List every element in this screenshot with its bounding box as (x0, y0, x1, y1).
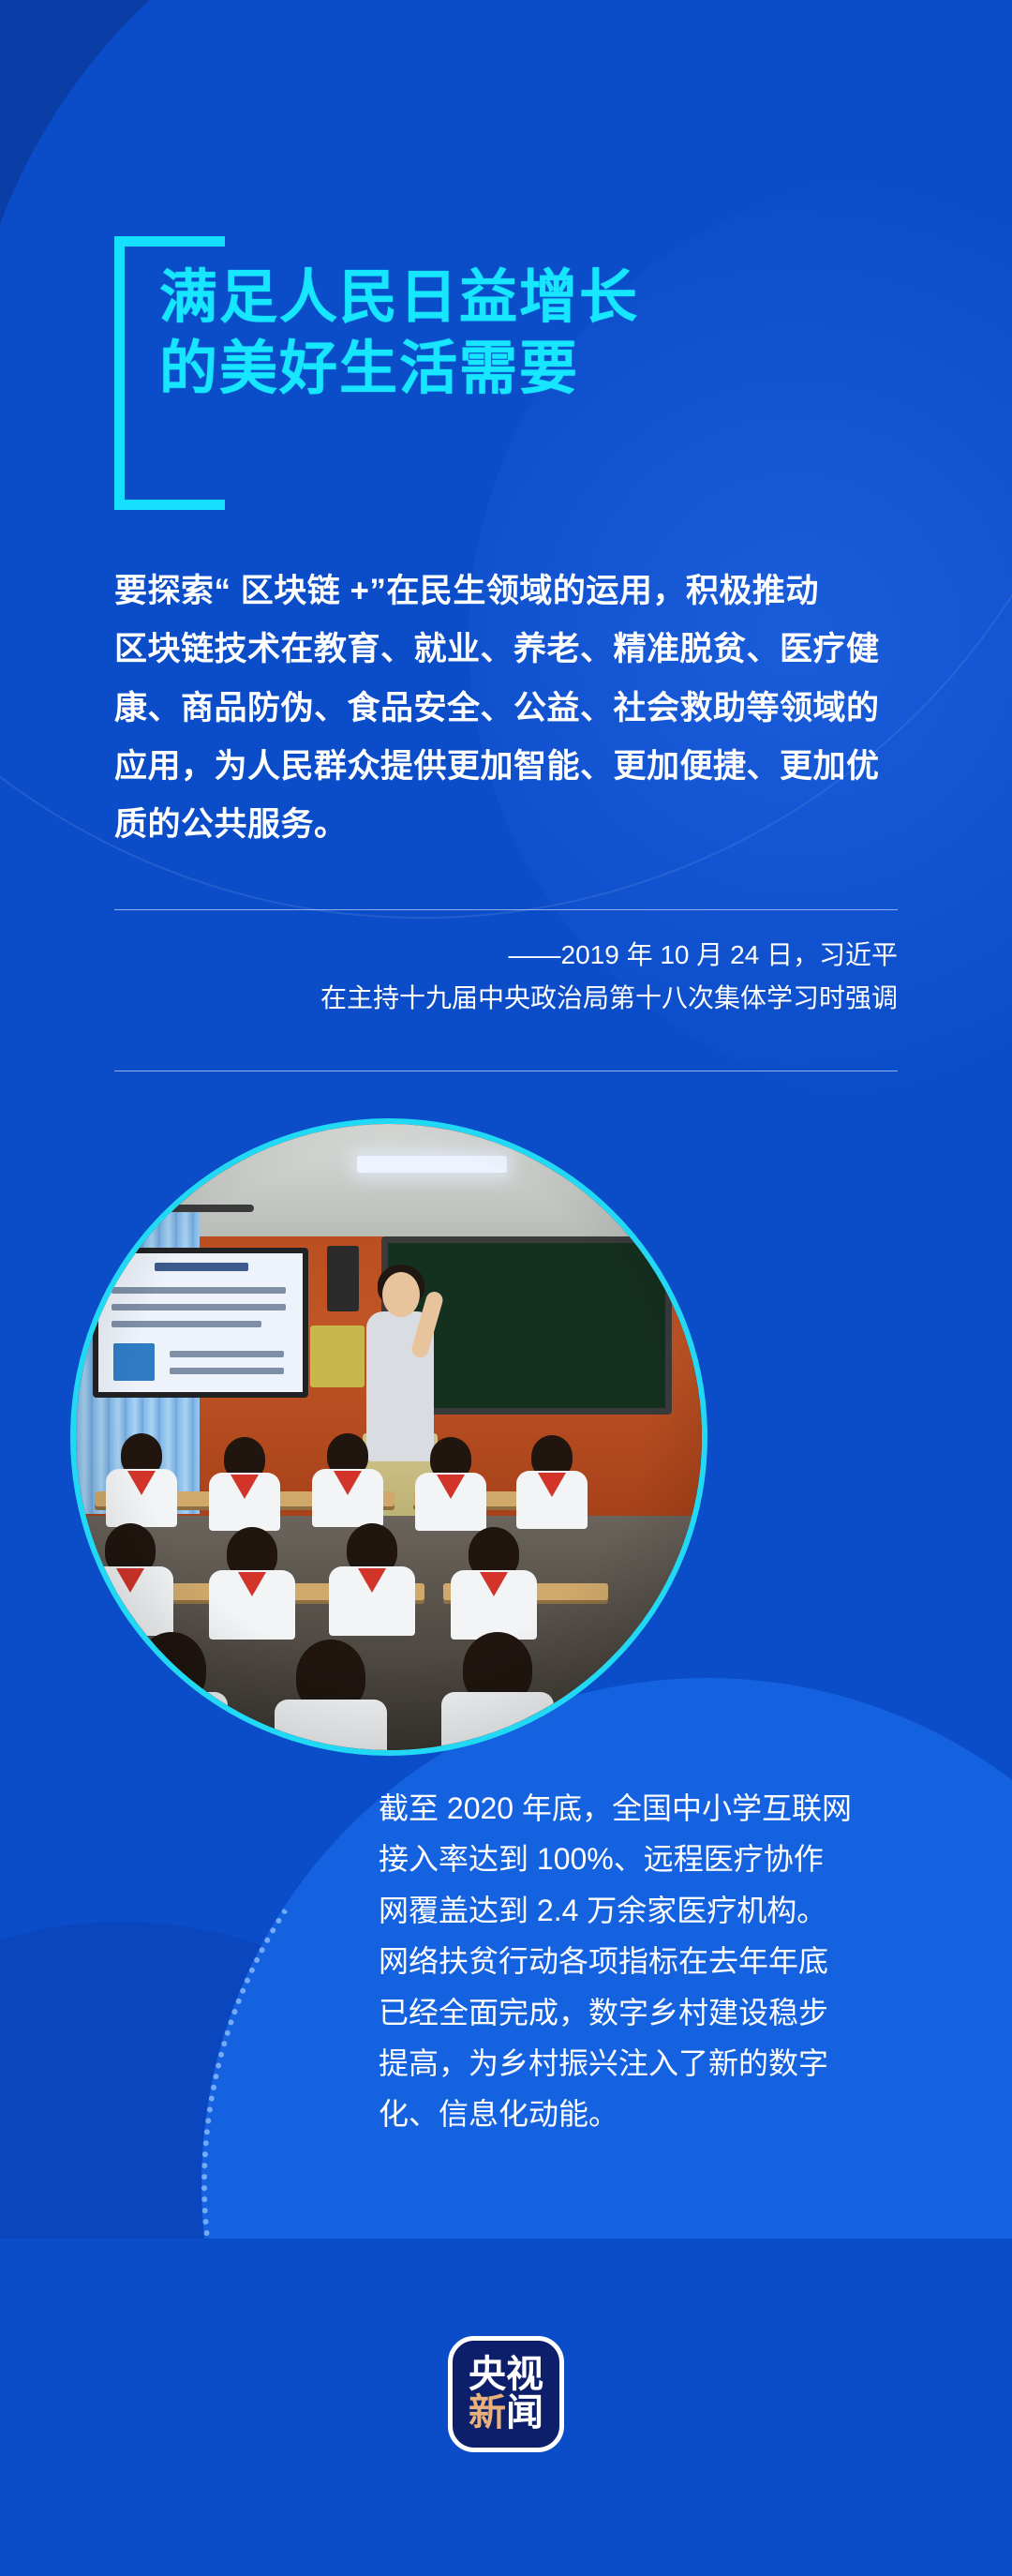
classroom-photo (70, 1118, 707, 1756)
logo-char-yang: 央 (469, 2356, 506, 2394)
quote-paragraph: 要探索“ 区块链 +”在民生领域的运用，积极推动 区块链技术在教育、就业、养老、… (114, 562, 901, 854)
logo-row-bottom: 新 闻 (453, 2394, 559, 2433)
cctv-news-logo: 央 视 新 闻 (448, 2336, 564, 2452)
divider-top (114, 909, 898, 910)
photo-vignette (76, 1124, 702, 1750)
logo-row-top: 央 视 (453, 2356, 559, 2394)
statement-text: 截至 2020 年底，全国中小学互联网 接入率达到 100%、远程医疗协作 网覆… (379, 1783, 941, 2140)
logo-char-xin: 新 (469, 2394, 506, 2433)
logo-char-shi: 视 (506, 2356, 543, 2394)
poster-root: 满足人民日益增长 的美好生活需要 要探索“ 区块链 +”在民生领域的运用，积极推… (0, 0, 1012, 2576)
divider-bottom (114, 1071, 898, 1071)
logo-char-wen: 闻 (506, 2394, 543, 2433)
title-block: 满足人民日益增长 的美好生活需要 (114, 236, 845, 404)
page-title: 满足人民日益增长 的美好生活需要 (159, 236, 845, 404)
attribution-text: ——2019 年 10 月 24 日，习近平 在主持十九届中央政治局第十八次集体… (114, 934, 898, 1020)
